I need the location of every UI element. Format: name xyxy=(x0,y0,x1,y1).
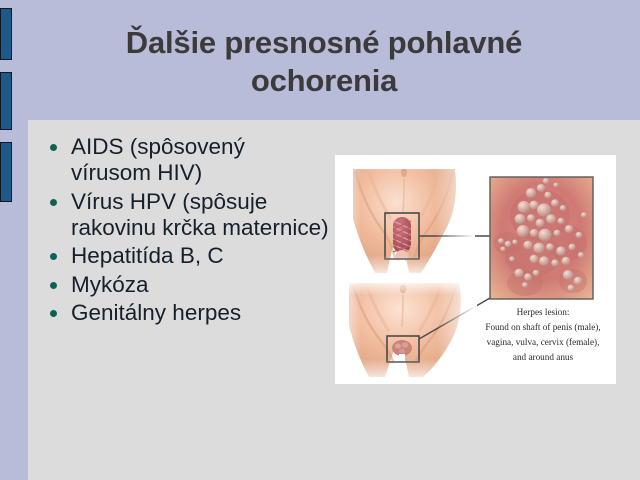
list-item: AIDS (spôsovený vírusom HIV) xyxy=(44,134,329,187)
list-item-label: Mykóza xyxy=(71,272,149,297)
slide-title: Ďalšie presnosné pohlavné ochorenia xyxy=(34,24,614,100)
bullet-dot-icon xyxy=(50,310,57,317)
list-item-label: Vírus HPV (spôsuje rakovinu krčka matern… xyxy=(71,189,329,240)
list-item-label: AIDS (spôsovený vírusom HIV) xyxy=(71,134,245,185)
bullet-dot-icon xyxy=(50,144,57,151)
accent-bar-3 xyxy=(0,142,12,202)
caption-line-1: Herpes lesion: xyxy=(517,307,570,317)
bullet-dot-icon xyxy=(50,282,57,289)
list-item: Genitálny herpes xyxy=(44,300,329,326)
female-anatomy-figure xyxy=(335,279,490,384)
caption-line-3: vagina, vulva, cervix (female), xyxy=(487,337,600,347)
accent-bar-2 xyxy=(0,72,12,130)
bullet-dot-icon xyxy=(50,199,57,206)
slide-content-panel: AIDS (spôsovený vírusom HIV) Vírus HPV (… xyxy=(28,120,640,480)
lesion-closeup-panel xyxy=(490,177,593,299)
accent-bar-1 xyxy=(0,8,12,60)
list-item-label: Hepatitída B, C xyxy=(71,243,224,268)
bullet-list: AIDS (spôsovený vírusom HIV) Vírus HPV (… xyxy=(44,134,329,328)
illustration-svg: Herpes lesion: Found on shaft of penis (… xyxy=(335,155,616,384)
male-anatomy-figure xyxy=(335,155,490,279)
list-item: Vírus HPV (spôsuje rakovinu krčka matern… xyxy=(44,189,329,242)
caption-line-2: Found on shaft of penis (male), xyxy=(485,322,600,332)
herpes-illustration: Herpes lesion: Found on shaft of penis (… xyxy=(335,155,616,384)
slide-canvas: Ďalšie presnosné pohlavné ochorenia AIDS… xyxy=(0,0,640,480)
caption-line-4: and around anus xyxy=(513,352,574,362)
bullet-dot-icon xyxy=(50,253,57,260)
list-item: Hepatitída B, C xyxy=(44,243,329,269)
list-item: Mykóza xyxy=(44,272,329,298)
list-item-label: Genitálny herpes xyxy=(71,300,241,325)
